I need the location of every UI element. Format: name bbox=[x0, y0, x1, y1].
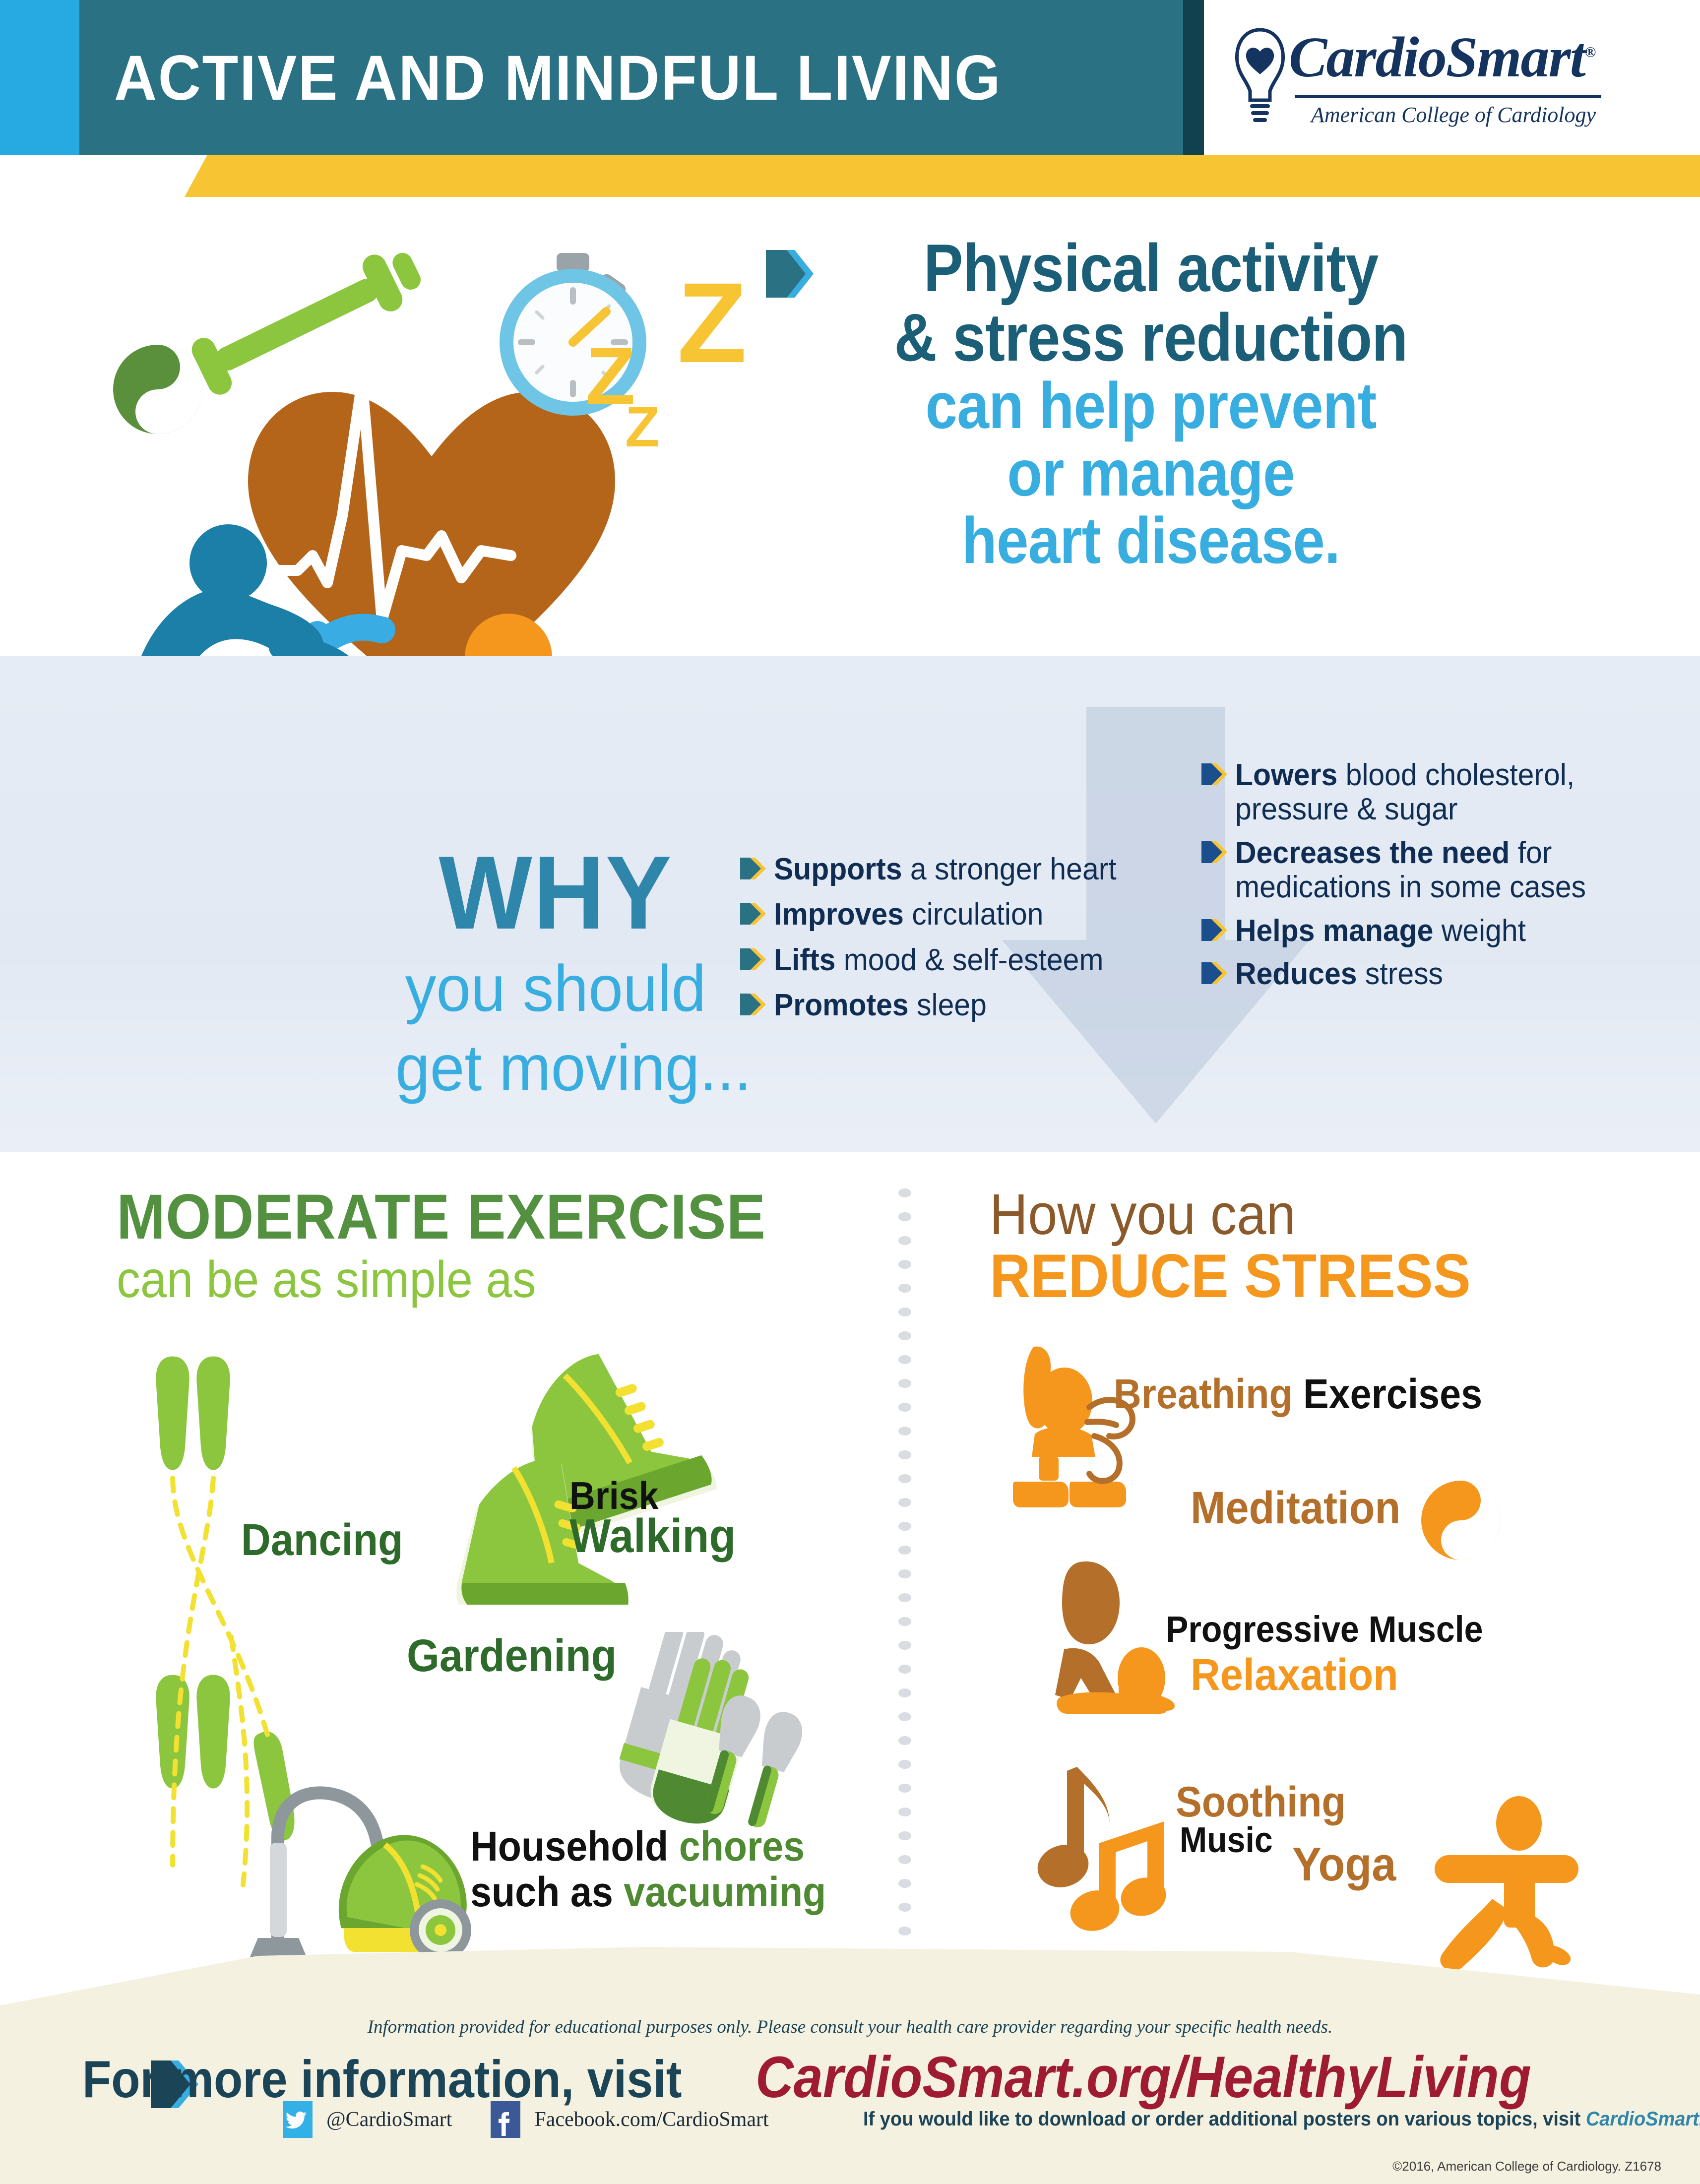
household-chores-label-line1: Household chores bbox=[470, 1824, 805, 1869]
why-heading-block: WHY you should get moving... bbox=[387, 843, 724, 1102]
music-label: Music bbox=[1180, 1821, 1273, 1859]
reduce-stress-heading-line2: REDUCE STRESS bbox=[990, 1245, 1560, 1308]
hero-headline: Physical activity & stress reduction can… bbox=[764, 233, 1538, 574]
header-yellow-band bbox=[0, 155, 1700, 197]
soothing-label: Soothing bbox=[1176, 1780, 1346, 1825]
list-item: Supports a stronger heart bbox=[739, 852, 1176, 886]
posters-link[interactable]: CardioSmart.org/Posters bbox=[1586, 2108, 1700, 2130]
vacuum-cleaner-icon bbox=[248, 1768, 486, 1957]
list-item: Improves circulation bbox=[739, 897, 1176, 932]
chevron-bullet-icon bbox=[739, 902, 766, 926]
list-item: Reduces stress bbox=[1200, 957, 1692, 991]
moderate-heading-line1: MODERATE EXERCISE bbox=[117, 1186, 801, 1249]
chevron-bullet-icon bbox=[739, 993, 766, 1016]
dumbbell-icon bbox=[166, 240, 429, 409]
hero-line-2: & stress reduction bbox=[811, 303, 1492, 372]
list-item-text: Decreases the need for medications in so… bbox=[1235, 836, 1669, 905]
column-divider bbox=[898, 1183, 912, 1942]
chevron-bullet-icon bbox=[1200, 918, 1227, 942]
facebook-handle[interactable]: Facebook.com/CardioSmart bbox=[534, 2108, 768, 2131]
svg-text:Z: Z bbox=[677, 259, 747, 386]
hero-line-3: can help prevent bbox=[811, 372, 1492, 439]
yoga-label: Yoga bbox=[1292, 1839, 1396, 1890]
header-teal-dark-edge bbox=[1183, 0, 1204, 155]
poster-canvas: ACTIVE AND MINDFUL LIVING CardioSmart® A… bbox=[0, 0, 1700, 2184]
breathing-person-icon bbox=[1002, 1342, 1151, 1510]
why-subheading-line1: you should bbox=[395, 955, 716, 1022]
list-item: Promotes sleep bbox=[739, 988, 1176, 1022]
cta-url[interactable]: CardioSmart.org/HealthyLiving bbox=[756, 2044, 1531, 2111]
brisk-walking-label-line2: Walking bbox=[569, 1511, 736, 1561]
gardening-label: Gardening bbox=[407, 1632, 617, 1681]
breathing-exercises-label: Breathing Exercises bbox=[1114, 1372, 1482, 1416]
twitter-handle[interactable]: @CardioSmart bbox=[326, 2108, 452, 2131]
facebook-icon[interactable] bbox=[491, 2101, 520, 2138]
posters-note: If you would like to download or order a… bbox=[863, 2108, 1598, 2130]
list-item-text: Supports a stronger heart bbox=[774, 852, 1117, 886]
why-subheading-line2: get moving... bbox=[395, 1035, 716, 1102]
heart-bulb-logo-icon bbox=[1230, 26, 1290, 125]
social-links: @CardioSmart Facebook.com/CardioSmart bbox=[283, 2101, 769, 2138]
list-item-text: Improves circulation bbox=[774, 897, 1043, 932]
hero-line-1: Physical activity bbox=[811, 233, 1492, 303]
list-item-text: Lifts mood & self-esteem bbox=[774, 943, 1103, 977]
svg-text:Z: Z bbox=[625, 395, 660, 459]
chevron-bullet-icon bbox=[739, 857, 766, 880]
logo-subtitle: American College of Cardiology bbox=[1295, 102, 1612, 127]
why-heading-large: WHY bbox=[395, 843, 716, 942]
registered-mark: ® bbox=[1585, 44, 1595, 60]
yin-yang-icon bbox=[113, 345, 202, 434]
reduce-stress-heading: How you can REDUCE STRESS bbox=[990, 1186, 1610, 1308]
header-cyan-accent bbox=[0, 0, 79, 155]
meditation-label: Meditation bbox=[1191, 1484, 1400, 1533]
twitter-icon[interactable] bbox=[283, 2101, 313, 2138]
list-item-text: Reduces stress bbox=[1235, 957, 1443, 991]
hero-line-5: heart disease. bbox=[811, 507, 1492, 574]
moderate-heading-line2: can be as simple as bbox=[117, 1253, 801, 1307]
relaxation-label-line2: Relaxation bbox=[1191, 1652, 1398, 1699]
hero-line-4: or manage bbox=[811, 439, 1492, 507]
list-item-text: Promotes sleep bbox=[774, 988, 987, 1022]
cta-prefix: For more information, visit bbox=[82, 2050, 682, 2110]
logo-wordmark: CardioSmart® bbox=[1289, 25, 1595, 91]
progressive-muscle-label-line1: Progressive Muscle bbox=[1166, 1610, 1483, 1649]
list-item: Lowers blood cholesterol, pressure & sug… bbox=[1200, 758, 1692, 827]
chevron-bullet-icon bbox=[1200, 840, 1227, 864]
moderate-exercise-heading: MODERATE EXERCISE can be as simple as bbox=[117, 1186, 861, 1307]
dancing-label: Dancing bbox=[241, 1517, 403, 1564]
household-chores-label-line2: such as vacuuming bbox=[470, 1870, 826, 1914]
disclaimer-text: Information provided for educational pur… bbox=[0, 2016, 1700, 2038]
list-item: Helps manage weight bbox=[1200, 914, 1692, 948]
yin-yang-icon bbox=[1419, 1478, 1503, 1562]
garden-gloves-tools-icon bbox=[600, 1632, 809, 1840]
benefit-list-right: Lowers blood cholesterol, pressure & sug… bbox=[1200, 758, 1692, 1000]
list-item: Decreases the need for medications in so… bbox=[1200, 836, 1692, 905]
cta-line: For more information, visitCardioSmart.o… bbox=[0, 2044, 1700, 2111]
list-item: Lifts mood & self-esteem bbox=[739, 943, 1176, 977]
list-item-text: Helps manage weight bbox=[1235, 914, 1526, 948]
logo-divider bbox=[1295, 95, 1601, 98]
chevron-bullet-icon bbox=[739, 947, 766, 971]
posters-note-text: If you would like to download or order a… bbox=[863, 2108, 1586, 2130]
page-title: ACTIVE AND MINDFUL LIVING bbox=[114, 39, 1092, 118]
benefit-list-left: Supports a stronger heart Improves circu… bbox=[739, 852, 1176, 1034]
chevron-bullet-icon bbox=[1200, 762, 1227, 786]
copyright-text: ©2016, American College of Cardiology. Z… bbox=[1392, 2159, 1661, 2174]
reduce-stress-heading-line1: How you can bbox=[990, 1186, 1560, 1243]
yoga-pose-icon bbox=[1429, 1796, 1592, 1974]
cardiosmart-logo: CardioSmart® American College of Cardiol… bbox=[1230, 20, 1607, 134]
list-item-text: Lowers blood cholesterol, pressure & sug… bbox=[1235, 758, 1669, 827]
chevron-bullet-icon bbox=[1200, 961, 1227, 985]
